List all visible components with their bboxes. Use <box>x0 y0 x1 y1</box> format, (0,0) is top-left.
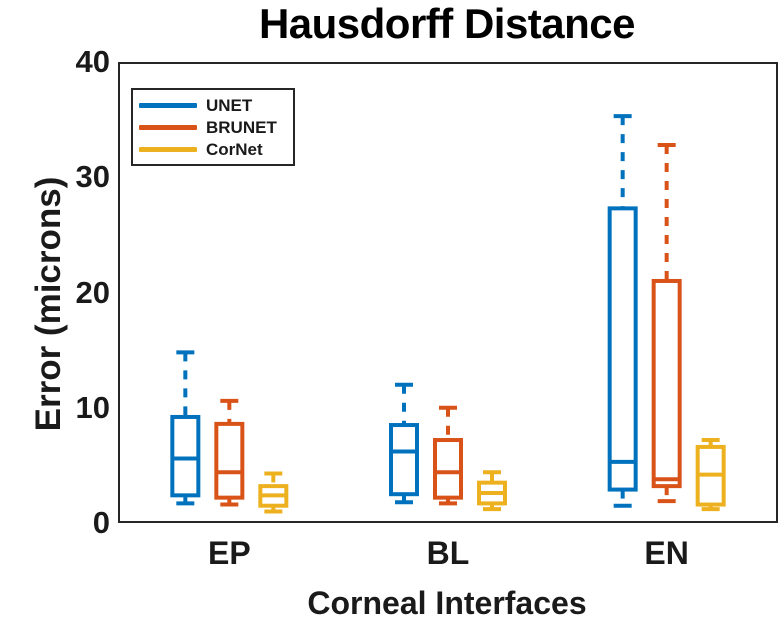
chart-legend: UNETBRUNETCorNet <box>131 88 295 166</box>
y-tick-0: 0 <box>40 507 110 538</box>
x-tick-en: EN <box>607 536 727 570</box>
chart-figure: Hausdorff Distance Error (microns) 01020… <box>0 0 784 627</box>
boxplot-en-brunet <box>654 145 680 501</box>
boxplot-ep-cornet <box>260 473 286 511</box>
boxplot-en-unet <box>610 116 636 506</box>
boxplot-en-cornet <box>698 440 724 509</box>
box <box>435 440 461 498</box>
boxplot-ep-brunet <box>216 401 242 505</box>
boxplot-bl-brunet <box>435 408 461 504</box>
y-tick-10: 10 <box>40 392 110 423</box>
y-tick-20: 20 <box>40 277 110 308</box>
legend-label-unet: UNET <box>206 97 252 114</box>
x-axis-label: Corneal Interfaces <box>110 585 784 622</box>
y-axis-tick-labels: 010203040 <box>0 0 110 627</box>
box <box>391 425 417 494</box>
legend-item-cornet[interactable]: CorNet <box>139 138 287 160</box>
legend-swatch-unet <box>139 103 197 108</box>
boxplot-ep-unet <box>172 352 198 503</box>
legend-label-cornet: CorNet <box>206 141 263 158</box>
boxplot-bl-cornet <box>479 472 505 509</box>
x-tick-bl: BL <box>388 536 508 570</box>
boxplot-bl-unet <box>391 385 417 503</box>
y-tick-40: 40 <box>40 46 110 77</box>
y-tick-30: 30 <box>40 161 110 192</box>
legend-swatch-cornet <box>139 147 197 152</box>
chart-title: Hausdorff Distance <box>110 0 784 48</box>
box <box>172 417 198 495</box>
box <box>654 281 680 486</box>
box <box>610 208 636 489</box>
box <box>216 424 242 498</box>
legend-item-unet[interactable]: UNET <box>139 94 287 116</box>
x-tick-ep: EP <box>169 536 289 570</box>
legend-label-brunet: BRUNET <box>206 119 277 136</box>
legend-swatch-brunet <box>139 125 197 130</box>
legend-item-brunet[interactable]: BRUNET <box>139 116 287 138</box>
